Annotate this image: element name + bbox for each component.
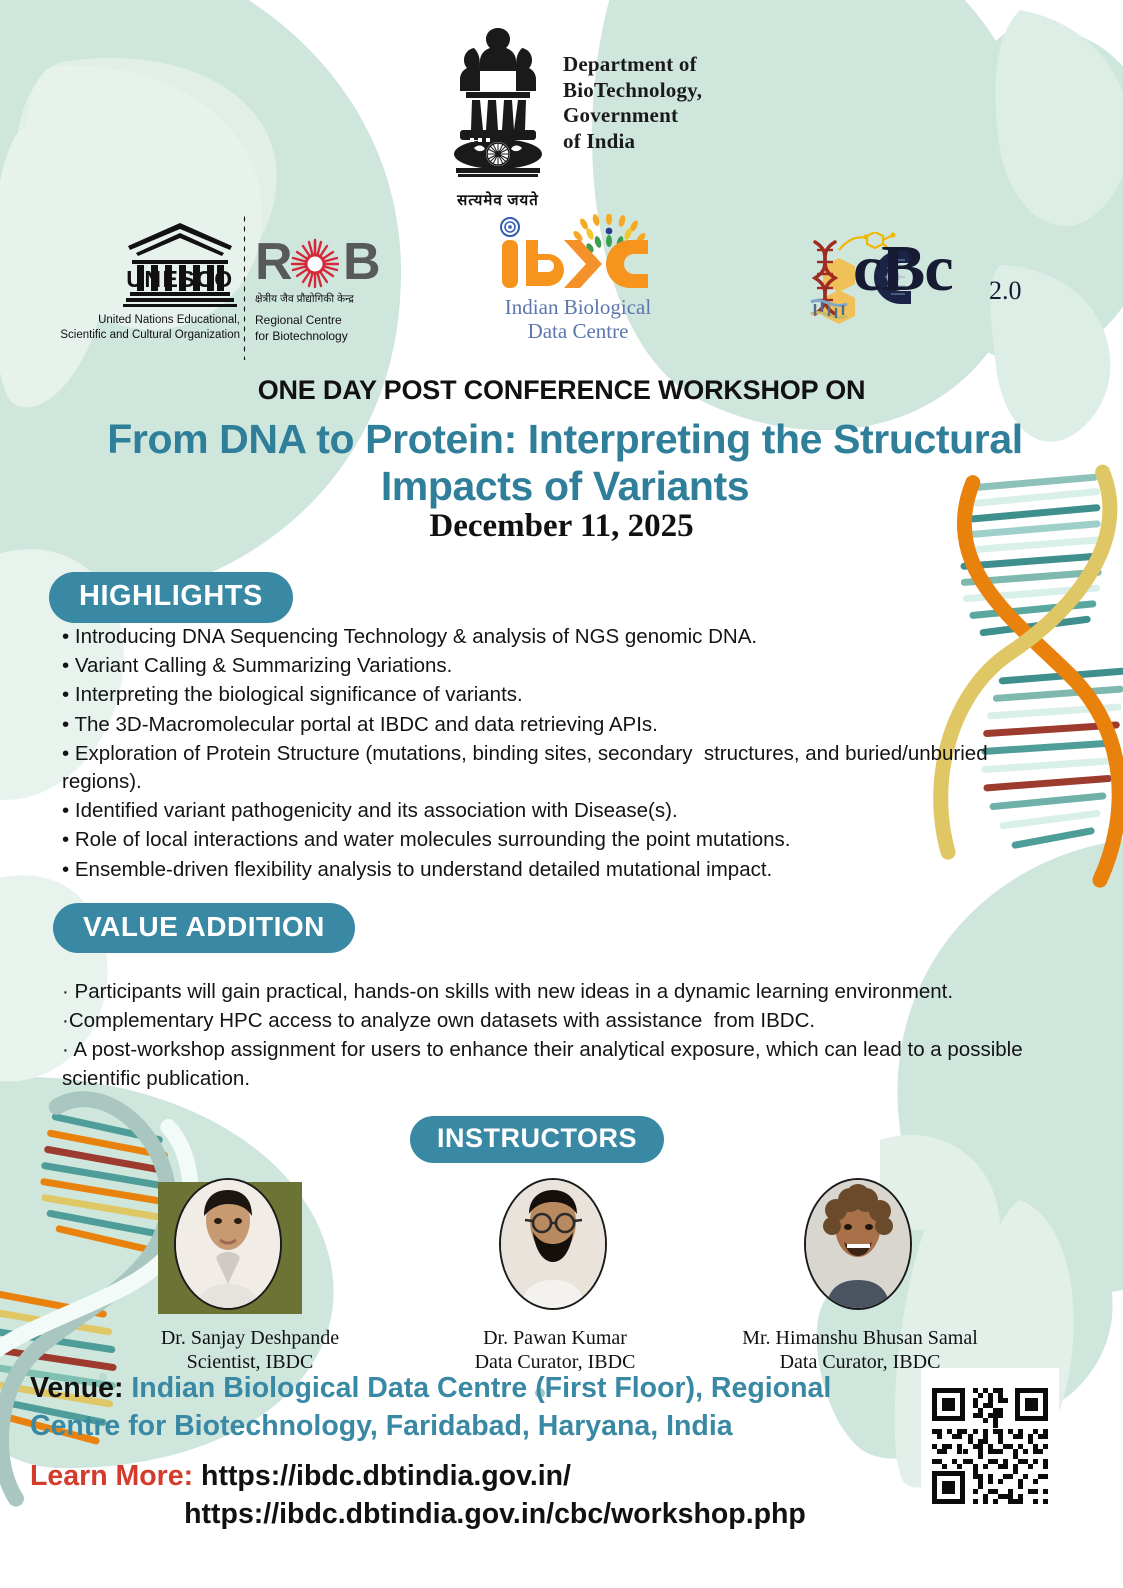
list-item: · A post-workshop assignment for users t… bbox=[62, 1036, 1062, 1092]
section-pill-value-addition: VALUE ADDITION bbox=[53, 903, 355, 953]
list-item: • Variant Calling & Summarizing Variatio… bbox=[62, 652, 1062, 680]
workshop-title: From DNA to Protein: Interpreting the St… bbox=[60, 416, 1070, 509]
dbt-logo-text: Department of BioTechnology, Government … bbox=[563, 22, 702, 154]
workshop-date: December 11, 2025 bbox=[0, 508, 1123, 545]
list-item: • Ensemble-driven flexibility analysis t… bbox=[62, 856, 1062, 884]
portrait-photo-icon bbox=[501, 1180, 605, 1308]
dbt-line-2: BioTechnology, bbox=[563, 78, 702, 104]
list-item: • Role of local interactions and water m… bbox=[62, 826, 1062, 854]
learn-more-block: Learn More: https://ibdc.dbtindia.gov.in… bbox=[30, 1458, 920, 1534]
ibdc-caption-line1: Indian Biological bbox=[478, 295, 678, 319]
workshop-url-secondary[interactable]: https://ibdc.dbtindia.gov.in/cbc/worksho… bbox=[30, 1496, 920, 1534]
ibdc-logo: Indian Biological Data Centre bbox=[478, 214, 678, 343]
instructor-name: Dr. Pawan Kumar bbox=[415, 1326, 695, 1350]
workshop-url-primary[interactable]: https://ibdc.dbtindia.gov.in/ bbox=[201, 1460, 571, 1492]
rcb-caption: Regional Centre for Biotechnology bbox=[255, 312, 405, 344]
rcb-virus-icon bbox=[289, 238, 341, 290]
learn-more-label: Learn More: bbox=[30, 1460, 193, 1492]
instructor-name: Dr. Sanjay Deshpande bbox=[110, 1326, 390, 1350]
unesco-caption: United Nations Educational, Scientific a… bbox=[55, 313, 240, 343]
portrait-photo-icon bbox=[806, 1180, 910, 1308]
unesco-logo: UNESCO United Nations Educational, Scien… bbox=[120, 220, 240, 313]
avatar bbox=[804, 1178, 912, 1310]
dbt-line-3: Government bbox=[563, 103, 702, 129]
list-item: • Exploration of Protein Structure (muta… bbox=[62, 740, 1062, 796]
workshop-kicker: ONE DAY POST CONFERENCE WORKSHOP ON bbox=[0, 375, 1123, 406]
workshop-qr-code-icon[interactable] bbox=[921, 1368, 1059, 1524]
qr-code-card[interactable] bbox=[921, 1368, 1059, 1524]
svg-text:UNESCO: UNESCO bbox=[126, 266, 233, 292]
list-item: · Participants will gain practical, hand… bbox=[62, 978, 1062, 1006]
ibdc-caption-line2: Data Centre bbox=[478, 319, 678, 343]
instructor-name: Mr. Himanshu Bhusan Samal bbox=[715, 1326, 1005, 1350]
partner-logos: UNESCO United Nations Educational, Scien… bbox=[0, 218, 1123, 358]
instructor-card: Mr. Himanshu Bhusan Samal Data Curator, … bbox=[715, 1178, 1005, 1375]
list-item: ·Complementary HPC access to analyze own… bbox=[62, 1007, 1062, 1035]
ibdc-mark-icon bbox=[478, 214, 678, 292]
list-item: • Interpreting the biological significan… bbox=[62, 681, 1062, 709]
venue-label: Venue: bbox=[30, 1372, 123, 1404]
rcb-hindi-caption: क्षेत्रीय जैव प्रौद्योगिकी केन्द्र bbox=[255, 292, 405, 306]
instructor-card: Dr. Pawan Kumar Data Curator, IBDC bbox=[415, 1178, 695, 1375]
ashoka-emblem-icon bbox=[444, 22, 552, 187]
section-pill-instructors: INSTRUCTORS bbox=[410, 1116, 664, 1163]
avatar bbox=[174, 1178, 282, 1310]
venue-block: Venue: Indian Biological Data Centre (Fi… bbox=[30, 1370, 910, 1445]
list-item: • Identified variant pathogenicity and i… bbox=[62, 797, 1062, 825]
emblem-motto: सत्यमेव जयते bbox=[457, 190, 539, 210]
instructors-row: Dr. Sanjay Deshpande Scientist, IBDC bbox=[0, 1178, 1123, 1358]
dbt-logo: सत्यमेव जयते Department of BioTechnology… bbox=[443, 22, 743, 217]
cbc-wordmark: cBc bbox=[853, 234, 953, 304]
logo-divider-dotted bbox=[243, 214, 246, 360]
cbc-logo: cBc 2.0 bbox=[805, 232, 1035, 327]
dbt-line-4: of India bbox=[563, 129, 702, 155]
list-item: • Introducing DNA Sequencing Technology … bbox=[62, 623, 1062, 651]
unesco-temple-icon: UNESCO bbox=[120, 220, 240, 308]
venue-text: Indian Biological Data Centre (First Flo… bbox=[30, 1372, 831, 1442]
value-addition-list: · Participants will gain practical, hand… bbox=[62, 978, 1062, 1094]
section-pill-highlights: HIGHLIGHTS bbox=[49, 572, 293, 623]
avatar bbox=[499, 1178, 607, 1310]
cbc-version: 2.0 bbox=[989, 276, 1022, 306]
instructor-card: Dr. Sanjay Deshpande Scientist, IBDC bbox=[110, 1178, 390, 1375]
portrait-photo-icon bbox=[176, 1180, 280, 1308]
highlights-list: • Introducing DNA Sequencing Technology … bbox=[62, 623, 1062, 885]
dbt-line-1: Department of bbox=[563, 52, 702, 78]
list-item: • The 3D-Macromolecular portal at IBDC a… bbox=[62, 711, 1062, 739]
rcb-logo: R bbox=[255, 234, 405, 344]
ibdc-caption: Indian Biological Data Centre bbox=[478, 295, 678, 343]
